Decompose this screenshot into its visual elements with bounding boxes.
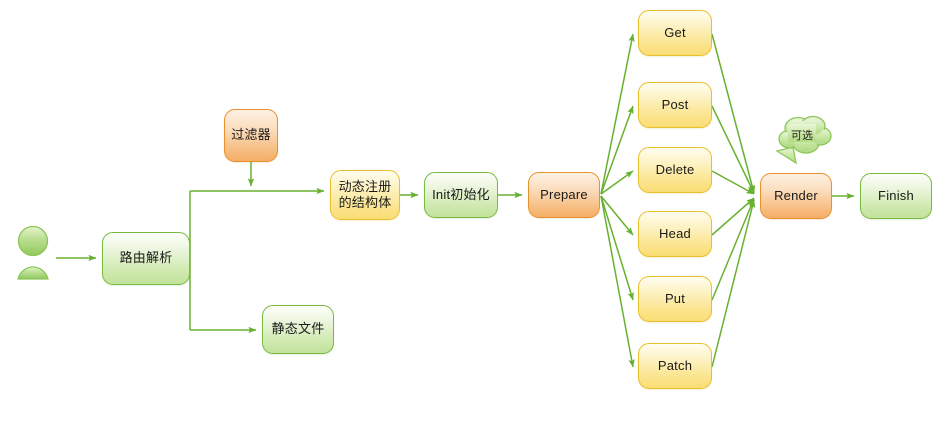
node-prepare[interactable]: Prepare [528,172,600,218]
node-render[interactable]: Render [760,173,832,219]
node-dynamic-struct-label: 动态注册 的结构体 [339,179,392,212]
node-post[interactable]: Post [638,82,712,128]
node-filter[interactable]: 过滤器 [224,109,278,162]
node-dynamic-struct[interactable]: 动态注册 的结构体 [330,170,400,220]
node-head-label: Head [659,226,691,242]
edge-prepare-to-delete [601,171,633,194]
edge-prepare-to-get [601,34,633,194]
edge-prepare-to-post [601,106,633,194]
node-render-label: Render [774,188,818,204]
node-finish[interactable]: Finish [860,173,932,219]
node-put-label: Put [665,291,685,307]
node-patch[interactable]: Patch [638,343,712,389]
node-filter-label: 过滤器 [231,127,271,143]
edge-layer [0,0,951,448]
edge-post-to-render [712,106,754,193]
node-static-file[interactable]: 静态文件 [262,305,334,354]
node-delete[interactable]: Delete [638,147,712,193]
node-route[interactable]: 路由解析 [102,232,190,285]
edge-put-to-render [712,199,754,300]
node-finish-label: Finish [878,188,914,204]
node-get[interactable]: Get [638,10,712,56]
node-patch-label: Patch [658,358,692,374]
node-delete-label: Delete [656,162,695,178]
node-init[interactable]: Init初始化 [424,172,498,218]
node-init-label: Init初始化 [432,187,490,203]
edge-get-to-render [712,34,754,193]
flowchart-canvas: 可选 路由解析 过滤器 静态文件 动态注册 的结构体 Init初始化 Prepa… [0,0,951,448]
edge-head-to-render [712,198,754,235]
edge-delete-to-render [712,171,754,194]
node-route-label: 路由解析 [120,250,173,266]
edge-patch-to-render [712,200,754,367]
node-get-label: Get [664,25,686,41]
node-static-file-label: 静态文件 [272,321,325,337]
user-actor [18,227,48,280]
node-head[interactable]: Head [638,211,712,257]
edge-prepare-to-patch [601,196,633,367]
edge-prepare-to-head [601,196,633,235]
edge-prepare-to-put [601,196,633,300]
optional-cloud-label: 可选 [791,127,813,143]
node-prepare-label: Prepare [540,187,588,203]
node-put[interactable]: Put [638,276,712,322]
node-post-label: Post [662,97,689,113]
